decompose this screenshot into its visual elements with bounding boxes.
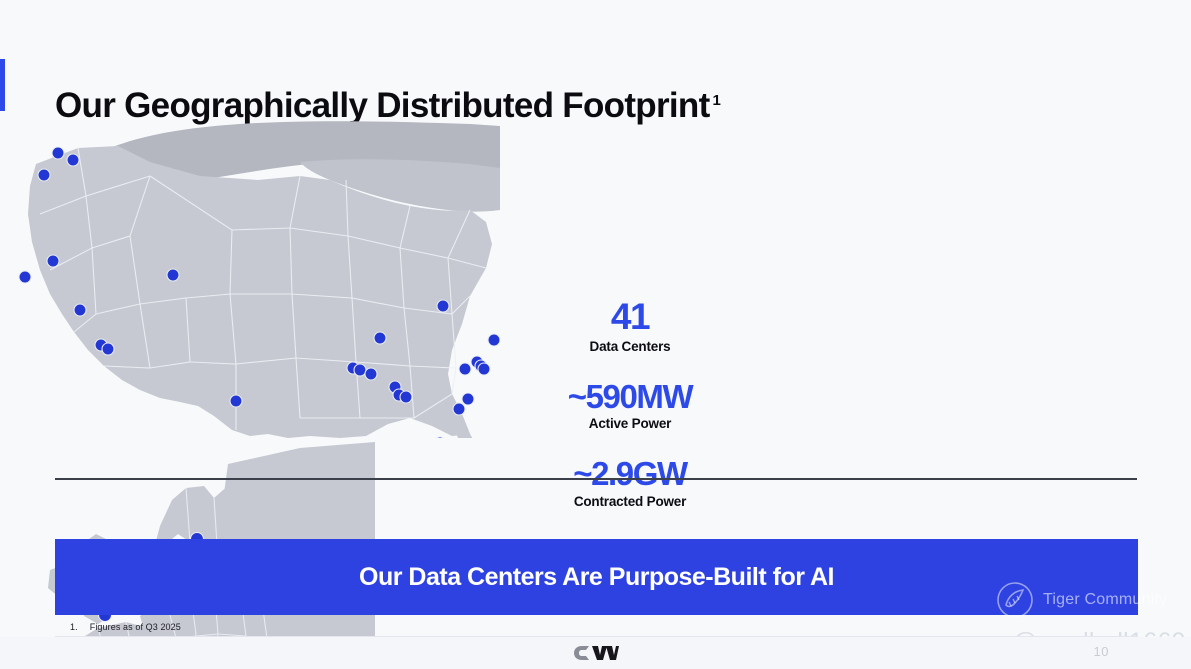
stat-value-contracted-power: ~2.9GW <box>520 457 740 492</box>
banner-text: Our Data Centers Are Purpose-Built for A… <box>359 563 834 592</box>
stat-value-active-power: ~590MW <box>520 380 740 415</box>
footnote-marker: 1. <box>70 622 78 632</box>
page-title-footnote-marker: 1 <box>713 92 721 109</box>
section-divider <box>55 478 1137 480</box>
maps-region: 41 Data Centers ~590MW Active Power ~2.9… <box>0 118 1191 468</box>
us-map <box>0 118 500 438</box>
stat-label-data-centers: Data Centers <box>520 339 740 354</box>
footnote: 1. Figures as of Q3 2025 <box>70 622 181 632</box>
stat-value-data-centers: 41 <box>520 298 740 337</box>
coreweave-logo-icon <box>573 643 619 663</box>
stat-active-power: ~590MW Active Power <box>520 380 740 432</box>
stat-label-active-power: Active Power <box>520 416 740 431</box>
stat-contracted-power: ~2.9GW Contracted Power <box>520 457 740 509</box>
us-map-graphic <box>0 118 500 438</box>
purpose-built-banner: Our Data Centers Are Purpose-Built for A… <box>55 539 1138 615</box>
footnote-text: Figures as of Q3 2025 <box>90 622 181 632</box>
stat-data-centers: 41 Data Centers <box>520 298 740 354</box>
stat-label-contracted-power: Contracted Power <box>520 494 740 509</box>
slide-canvas: Our Geographically Distributed Footprint… <box>0 0 1191 669</box>
title-accent-bar <box>0 59 5 111</box>
page-number: 10 <box>1094 644 1109 659</box>
